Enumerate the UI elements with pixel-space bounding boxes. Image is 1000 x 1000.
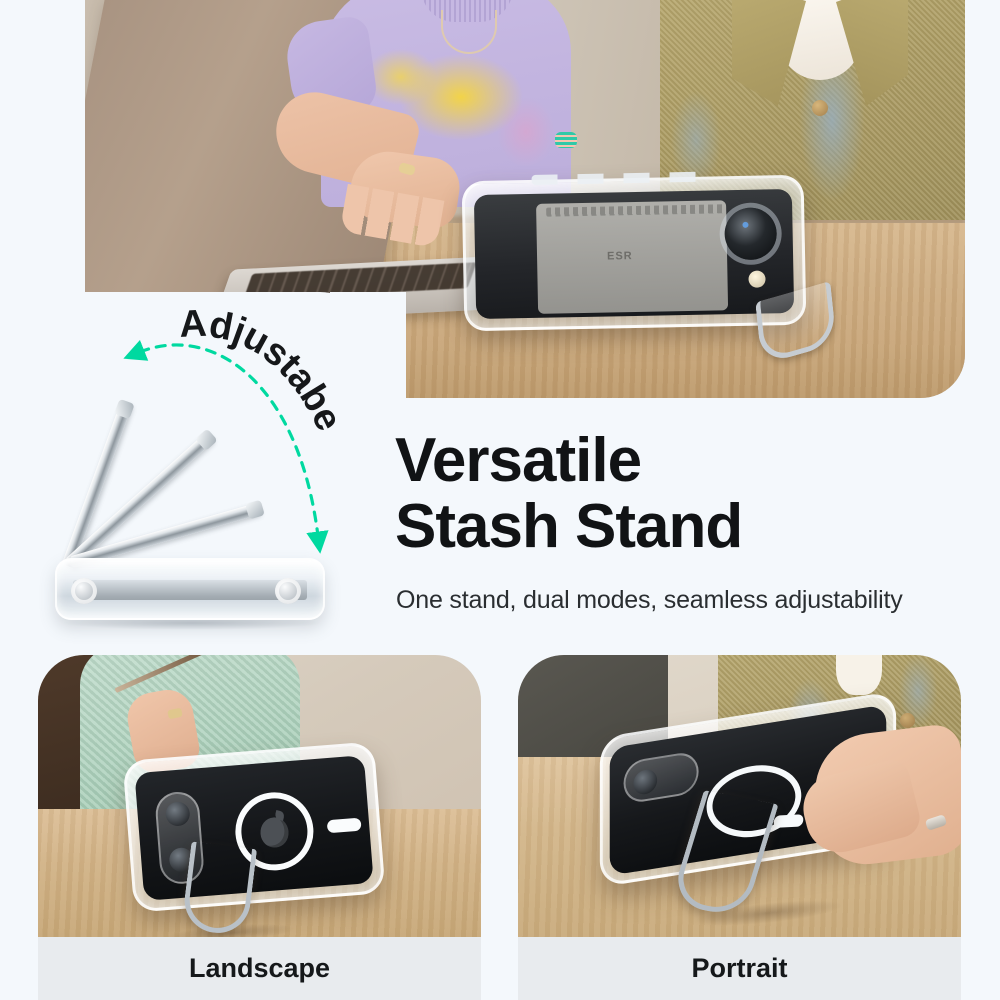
subtitle: One stand, dual modes, seamless adjustab…: [396, 586, 996, 615]
esr-brand-logo: ESR: [607, 250, 633, 262]
product-feature-page: ESR: [0, 0, 1000, 1000]
adjustable-label: Adjustabe: [170, 330, 420, 580]
hero-camera-lens-icon: [724, 207, 777, 260]
hero-flash-icon: [748, 270, 765, 287]
landscape-phone-back: [134, 755, 373, 901]
headline-line-1: Versatile: [395, 426, 641, 495]
headline-line-2: Stash Stand: [395, 492, 742, 561]
headline-block: Versatile Stash Stand: [395, 428, 995, 559]
portrait-camera-lens-icon: [624, 750, 699, 804]
landscape-phone: [122, 741, 385, 912]
mode-panel-portrait: Portrait: [518, 655, 961, 1000]
portrait-photo: [518, 655, 961, 937]
portrait-shirt: [836, 655, 882, 695]
mode-panel-landscape: Landscape: [38, 655, 481, 1000]
person-a-bracelet: [555, 132, 577, 148]
landscape-caption: Landscape: [38, 937, 481, 1000]
magsafe-dash-icon: [327, 818, 362, 834]
hero-phone-body: ESR: [474, 189, 794, 319]
portrait-caption: Portrait: [518, 937, 961, 1000]
landscape-photo: [38, 655, 481, 937]
portrait-magsafe-dash-icon: [773, 814, 804, 828]
portrait-jacket-button: [900, 713, 915, 728]
hero-phone-landscape: ESR: [462, 175, 807, 332]
person-b-button: [812, 100, 828, 116]
headline: Versatile Stash Stand: [395, 428, 995, 559]
